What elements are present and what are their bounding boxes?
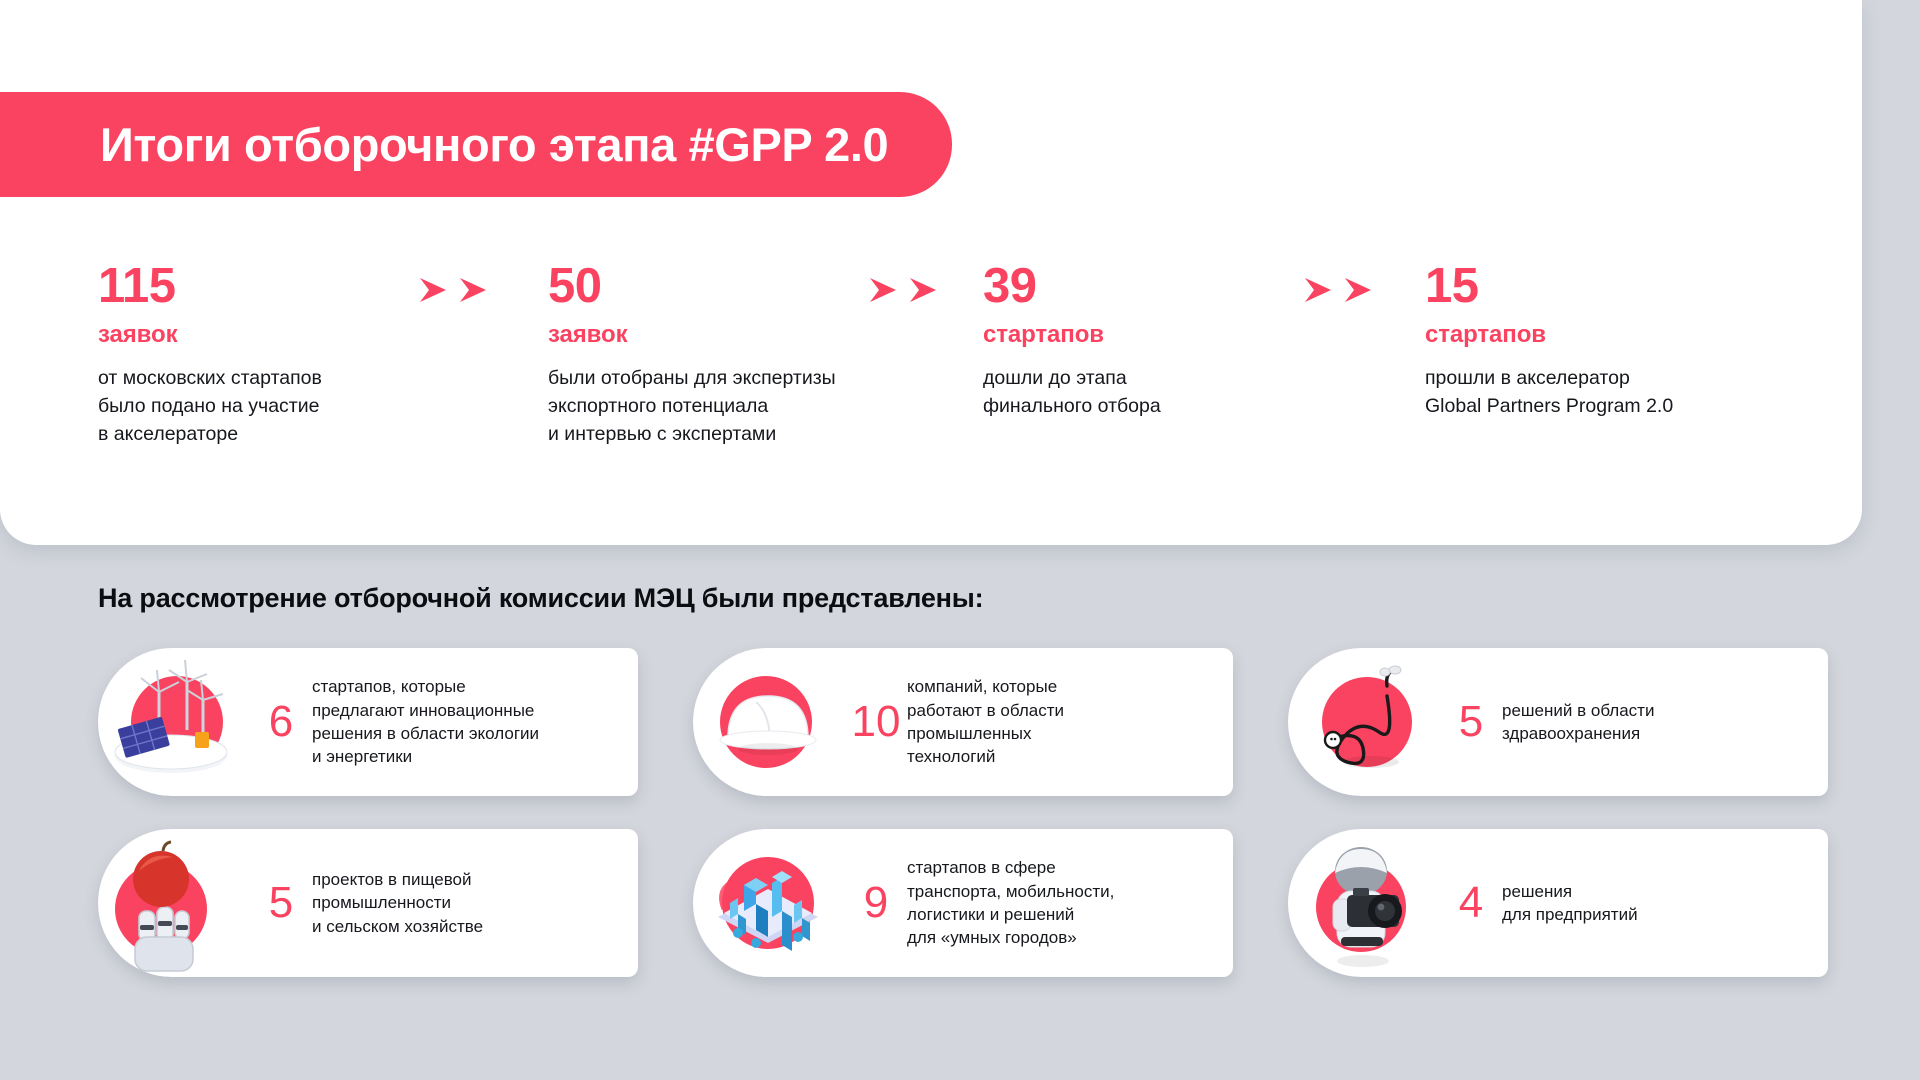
funnel-step-number: 39 (983, 262, 1161, 312)
wind-turbine-solar-panel-icon (99, 652, 249, 792)
funnel-step-unit: заявок (548, 321, 836, 350)
funnel-step-unit: заявок (98, 321, 322, 350)
category-card-number: 6 (250, 700, 312, 744)
funnel-step: 39стартаповдошли до этапа финального отб… (983, 262, 1161, 420)
category-card-text: компаний, которые работают в области про… (907, 675, 1233, 769)
category-card: 9стартапов в сфере транспорта, мобильнос… (693, 829, 1233, 977)
funnel-step: 115заявокот московских стартапов было по… (98, 262, 322, 449)
category-card-illustration (98, 648, 250, 796)
category-card-number: 9 (845, 881, 907, 925)
double-chevron-right-icon (1305, 278, 1371, 302)
top-panel: Итоги отборочного этапа #GPP 2.0 115заяв… (0, 0, 1862, 545)
chevron-right-icon (460, 278, 486, 302)
category-card-number: 5 (250, 881, 312, 925)
funnel-step-description: от московских стартапов было подано на у… (98, 364, 322, 449)
chevron-right-icon (870, 278, 896, 302)
chevron-right-icon (420, 278, 446, 302)
category-card-illustration (1288, 648, 1440, 796)
category-card-illustration (1288, 829, 1440, 977)
double-chevron-right-icon (870, 278, 936, 302)
funnel-step-unit: стартапов (983, 321, 1161, 350)
category-card: 10компаний, которые работают в области п… (693, 648, 1233, 796)
chevron-right-icon (1305, 278, 1331, 302)
category-card-text: решений в области здравоохранения (1502, 699, 1828, 746)
funnel-step-description: дошли до этапа финального отбора (983, 364, 1161, 421)
category-card: 6стартапов, которые предлагают инновацио… (98, 648, 638, 796)
category-card: 4решения для предприятий (1288, 829, 1828, 977)
category-card-text: решения для предприятий (1502, 880, 1828, 927)
double-chevron-right-icon (420, 278, 486, 302)
category-card-number: 4 (1440, 881, 1502, 925)
categories-card-grid: 6стартапов, которые предлагают инновацио… (98, 648, 1828, 977)
robot-hand-apple-icon (99, 833, 249, 973)
category-card: 5решений в области здравоохранения (1288, 648, 1828, 796)
category-card-text: стартапов, которые предлагают инновацион… (312, 675, 638, 769)
category-card-illustration (693, 648, 845, 796)
category-card-illustration (98, 829, 250, 977)
hard-hat-icon (694, 652, 844, 792)
title-banner: Итоги отборочного этапа #GPP 2.0 (0, 92, 952, 197)
chevron-right-icon (1345, 278, 1371, 302)
funnel-step: 50заявокбыли отобраны для экспертизы экс… (548, 262, 836, 449)
funnel-step-number: 15 (1425, 262, 1673, 312)
funnel-step: 15стартаповпрошли в акселератор Global P… (1425, 262, 1673, 420)
funnel-step-number: 50 (548, 262, 836, 312)
smart-city-icon (694, 833, 844, 973)
chevron-right-icon (910, 278, 936, 302)
stethoscope-icon (1289, 652, 1439, 792)
categories-heading: На рассмотрение отборочной комиссии МЭЦ … (98, 583, 983, 614)
category-card-number: 5 (1440, 700, 1502, 744)
robot-camera-icon (1289, 833, 1439, 973)
funnel-step-number: 115 (98, 262, 322, 312)
funnel-step-unit: стартапов (1425, 321, 1673, 350)
funnel-step-description: были отобраны для экспертизы экспортного… (548, 364, 836, 449)
page-title: Итоги отборочного этапа #GPP 2.0 (100, 121, 888, 168)
infographic-root: Итоги отборочного этапа #GPP 2.0 115заяв… (0, 0, 1920, 1080)
category-card-number: 10 (845, 700, 907, 744)
category-card: 5проектов в пищевой промышленности и сел… (98, 829, 638, 977)
category-card-text: проектов в пищевой промышленности и сель… (312, 868, 638, 938)
category-card-illustration (693, 829, 845, 977)
funnel-step-description: прошли в акселератор Global Partners Pro… (1425, 364, 1673, 421)
category-card-text: стартапов в сфере транспорта, мобильност… (907, 856, 1233, 950)
